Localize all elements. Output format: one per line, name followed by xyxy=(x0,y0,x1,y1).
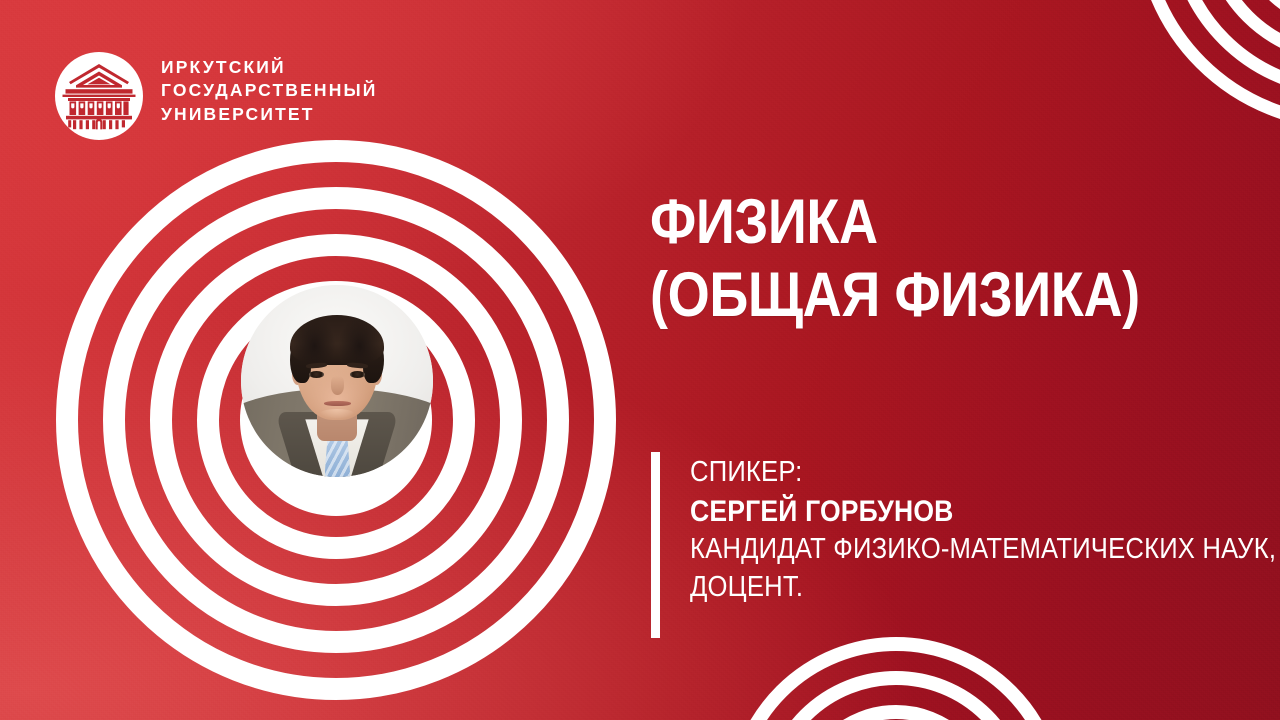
speaker-bullseye-graphic xyxy=(56,140,616,700)
page-title: ФИЗИКА (ОБЩАЯ ФИЗИКА) xyxy=(650,186,1250,332)
speaker-portrait-photo xyxy=(241,285,433,477)
speaker-credentials-line-2: ДОЦЕНТ. xyxy=(690,569,1276,607)
university-building-emblem-icon xyxy=(55,52,143,140)
university-logo-text: ИРКУТСКИЙ ГОСУДАРСТВЕННЫЙ УНИВЕРСИТЕТ xyxy=(161,48,378,126)
logo-line-2: ГОСУДАРСТВЕННЫЙ xyxy=(161,79,378,102)
portrait-eye-right xyxy=(350,371,365,378)
logo-line-3: УНИВЕРСИТЕТ xyxy=(161,103,378,126)
speaker-name: СЕРГЕЙ ГОРБУНОВ xyxy=(690,492,1276,531)
portrait-nose xyxy=(331,376,343,395)
portrait-eye-left xyxy=(309,371,324,378)
university-logo: ИРКУТСКИЙ ГОСУДАРСТВЕННЫЙ УНИВЕРСИТЕТ xyxy=(55,48,378,140)
logo-line-1: ИРКУТСКИЙ xyxy=(161,56,378,79)
page-title-line-2: (ОБЩАЯ ФИЗИКА) xyxy=(650,259,1166,332)
speaker-info-block: СПИКЕР: СЕРГЕЙ ГОРБУНОВ КАНДИДАТ ФИЗИКО-… xyxy=(651,452,1280,638)
speaker-accent-bar xyxy=(651,452,660,638)
speaker-credentials-line-1: КАНДИДАТ ФИЗИКО-МАТЕМАТИЧЕСКИХ НАУК, xyxy=(690,531,1276,569)
page-title-line-1: ФИЗИКА xyxy=(650,186,1166,259)
speaker-text-lines: СПИКЕР: СЕРГЕЙ ГОРБУНОВ КАНДИДАТ ФИЗИКО-… xyxy=(660,452,1280,638)
speaker-label: СПИКЕР: xyxy=(690,454,1276,492)
slide-canvas: ИРКУТСКИЙ ГОСУДАРСТВЕННЫЙ УНИВЕРСИТЕТ xyxy=(0,0,1280,720)
